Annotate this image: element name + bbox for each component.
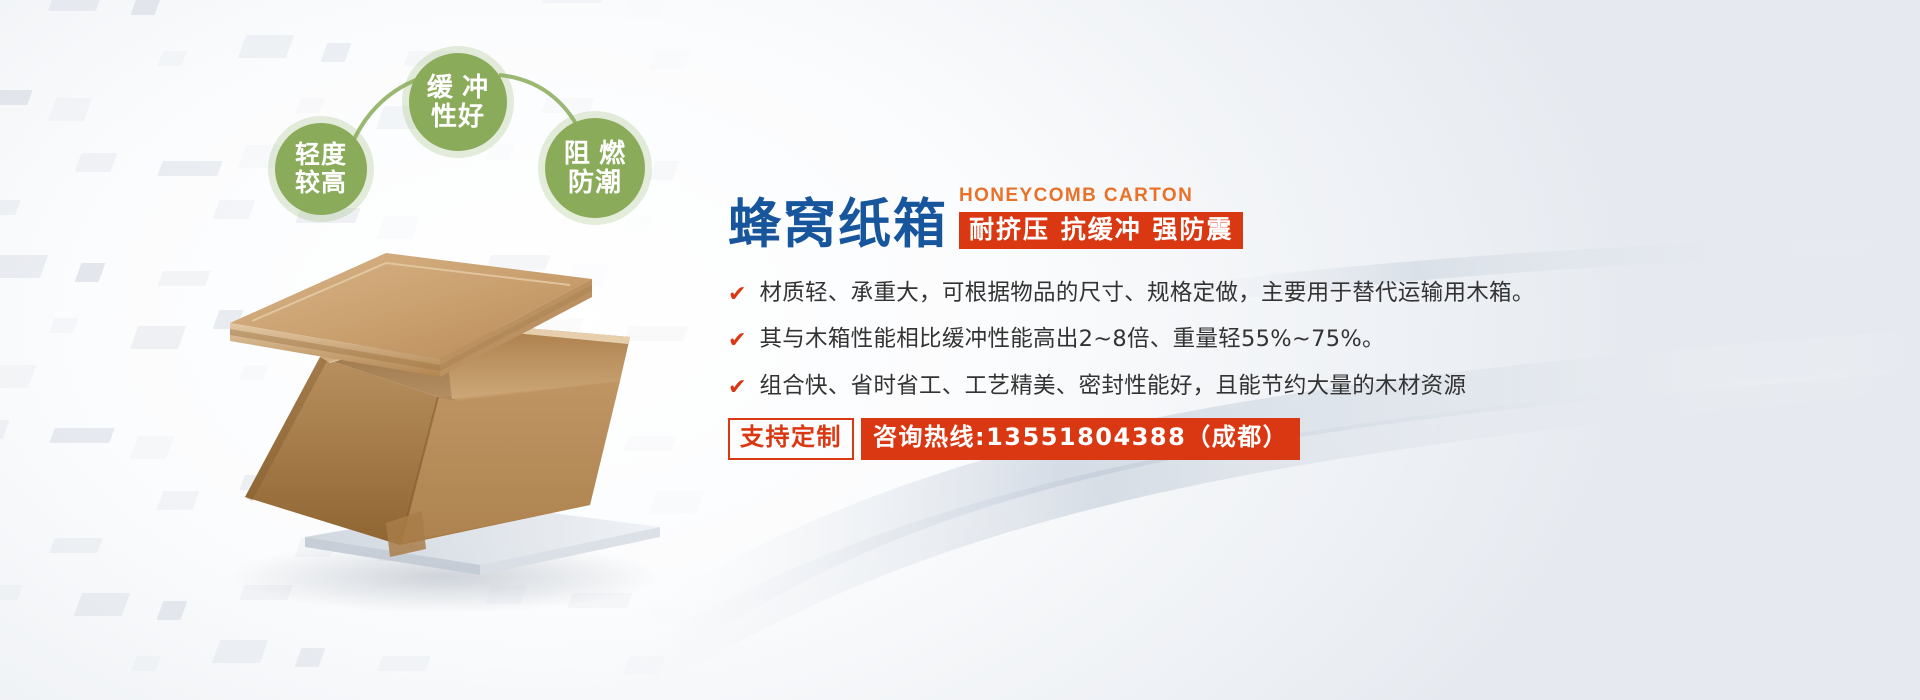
mosaic-tile <box>295 648 326 667</box>
mosaic-tile <box>623 656 666 675</box>
mosaic-tile <box>130 436 174 459</box>
feature-badge-line2: 性好 <box>431 102 485 131</box>
mosaic-tile <box>48 0 104 11</box>
feature-badge-line1: 阻 燃 <box>564 139 626 168</box>
mosaic-tile <box>131 0 162 15</box>
page-title: 蜂窝纸箱 <box>728 198 948 251</box>
mosaic-tile <box>74 593 130 616</box>
headline-side: HONEYCOMB CARTON 耐挤压 抗缓冲 强防震 <box>959 186 1243 251</box>
feature-badge-line2: 防潮 <box>568 168 622 197</box>
mosaic-tile <box>49 428 114 443</box>
promo-banner: 轻度 较高 缓 冲 性好 阻 燃 防潮 <box>0 0 1920 700</box>
check-icon: ✔ <box>728 327 746 353</box>
feature-badge-lightweight[interactable]: 轻度 较高 <box>275 123 367 215</box>
feature-badge-line2: 较高 <box>295 169 347 197</box>
mosaic-tile <box>75 153 118 172</box>
feature-badge-line1: 轻度 <box>295 141 347 169</box>
feature-bullet-list: ✔ 材质轻、承重大，可根据物品的尺寸、规格定做，主要用于替代运输用木箱。 ✔ 其… <box>728 279 1858 400</box>
honeycomb-carton-photo <box>190 205 710 625</box>
mosaic-tile <box>49 318 78 333</box>
mosaic-tile <box>0 420 9 439</box>
mosaic-tile <box>0 365 36 388</box>
mosaic-tile <box>49 538 102 553</box>
mosaic-tile <box>0 90 33 105</box>
headline-row: 蜂窝纸箱 HONEYCOMB CARTON 耐挤压 抗缓冲 强防震 <box>728 186 1858 251</box>
list-item-text: 组合快、省时省工、工艺精美、密封性能好，且能节约大量的木材资源 <box>759 372 1466 400</box>
list-item: ✔ 其与木箱性能相比缓冲性能高出2~8倍、重量轻55%~75%。 <box>728 325 1858 353</box>
mosaic-tile <box>0 255 48 278</box>
mosaic-tile <box>130 326 186 349</box>
feature-badge-flameproof[interactable]: 阻 燃 防潮 <box>545 118 645 218</box>
headline-feature-badge: 耐挤压 抗缓冲 强防震 <box>959 212 1243 249</box>
list-item-text: 材质轻、承重大，可根据物品的尺寸、规格定做，主要用于替代运输用木箱。 <box>759 279 1534 307</box>
feature-badge-cushioning[interactable]: 缓 冲 性好 <box>409 53 507 151</box>
list-item: ✔ 材质轻、承重大，可根据物品的尺寸、规格定做，主要用于替代运输用木箱。 <box>728 279 1858 307</box>
mosaic-tile <box>622 0 666 19</box>
mosaic-tile <box>0 200 21 215</box>
custom-order-tag[interactable]: 支持定制 <box>728 418 854 460</box>
mosaic-tile <box>75 263 106 282</box>
banner-copy: 蜂窝纸箱 HONEYCOMB CARTON 耐挤压 抗缓冲 强防震 ✔ 材质轻、… <box>728 186 1858 460</box>
mosaic-tile <box>48 98 92 121</box>
mosaic-tile <box>212 640 268 663</box>
mosaic-tile <box>157 601 188 620</box>
cta-row: 支持定制 咨询热线:13551804388（成都） <box>728 418 1858 460</box>
list-item-text: 其与木箱性能相比缓冲性能高出2~8倍、重量轻55%~75%。 <box>759 325 1384 353</box>
hotline-badge[interactable]: 咨询热线:13551804388（成都） <box>861 418 1300 460</box>
mosaic-tile <box>0 585 23 600</box>
check-icon: ✔ <box>728 374 746 400</box>
mosaic-tile <box>541 0 606 3</box>
check-icon: ✔ <box>728 281 746 307</box>
mosaic-tile <box>157 51 186 66</box>
mosaic-tile <box>131 656 160 671</box>
feature-badge-line1: 缓 冲 <box>427 73 489 102</box>
list-item: ✔ 组合快、省时省工、工艺精美、密封性能好，且能节约大量的木材资源 <box>728 372 1858 400</box>
headline-subtitle-en: HONEYCOMB CARTON <box>959 186 1243 205</box>
feature-badge-group: 轻度 较高 缓 冲 性好 阻 燃 防潮 <box>255 45 695 225</box>
mosaic-tile <box>377 656 430 671</box>
mosaic-tile <box>157 161 222 176</box>
